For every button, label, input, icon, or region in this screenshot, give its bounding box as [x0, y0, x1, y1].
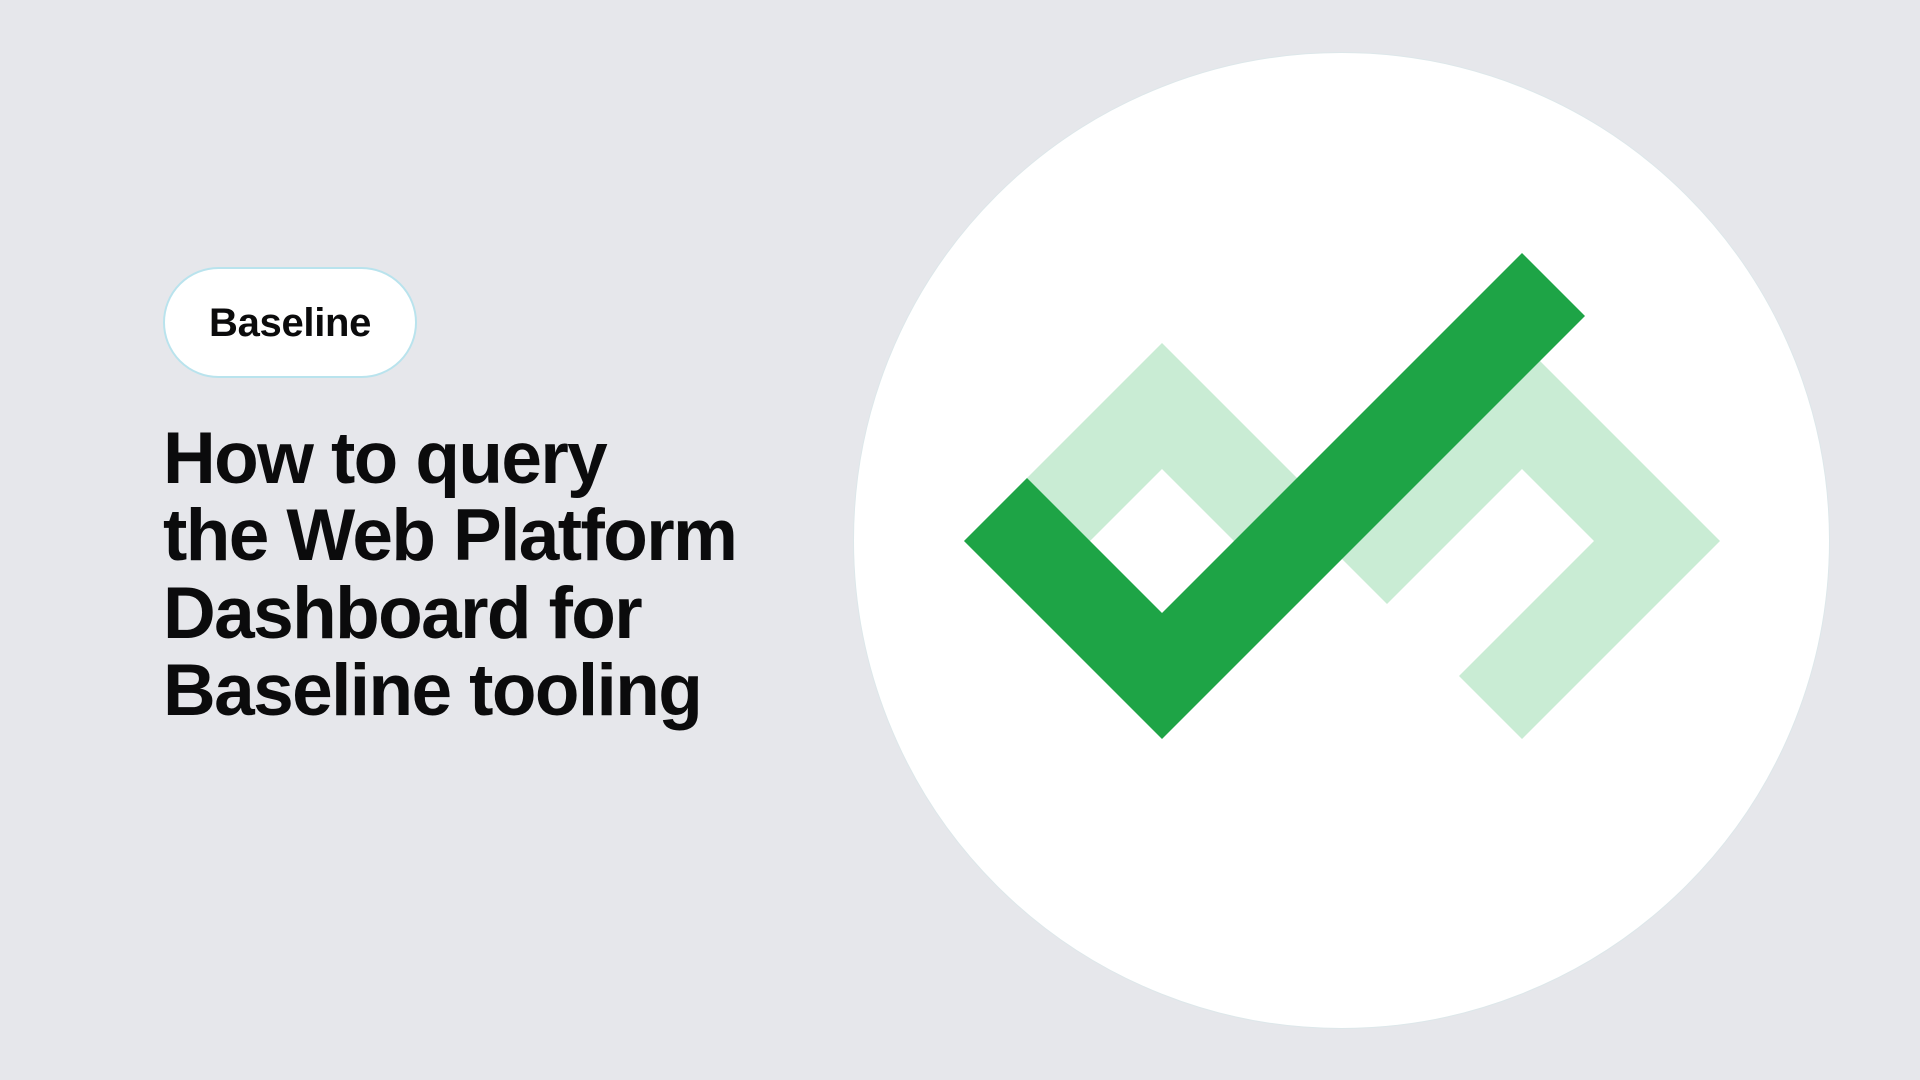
baseline-logo-disc: [853, 52, 1830, 1029]
headline-line-2: the Web Platform: [163, 497, 843, 574]
headline-line-1: How to query: [163, 420, 843, 497]
headline-line-4: Baseline tooling: [163, 652, 843, 729]
headline-line-3: Dashboard for: [163, 575, 843, 652]
baseline-badge-label: Baseline: [209, 303, 371, 343]
baseline-logo-icon: [892, 91, 1792, 991]
page-title: How to query the Web Platform Dashboard …: [163, 420, 843, 730]
baseline-badge[interactable]: Baseline: [163, 267, 417, 378]
share-card: Baseline How to query the Web Platform D…: [0, 0, 1920, 1080]
text-column: Baseline How to query the Web Platform D…: [163, 0, 863, 1080]
